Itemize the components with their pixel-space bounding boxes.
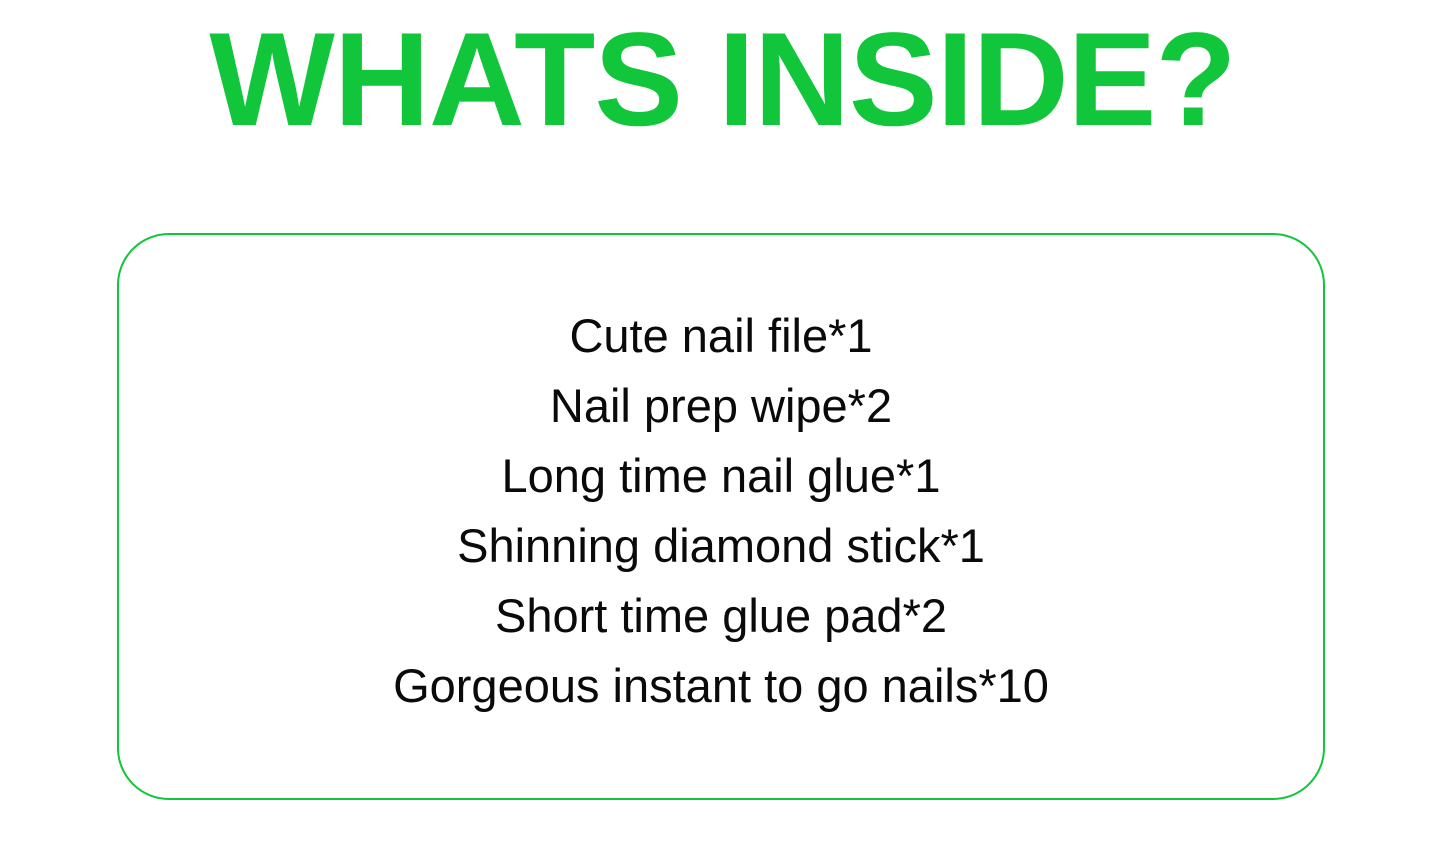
list-item: Shinning diamond stick*1 bbox=[119, 511, 1323, 581]
contents-list: Cute nail file*1 Nail prep wipe*2 Long t… bbox=[119, 301, 1323, 721]
page-title: WHATS INSIDE? bbox=[0, 14, 1445, 147]
list-item: Nail prep wipe*2 bbox=[119, 371, 1323, 441]
list-item: Cute nail file*1 bbox=[119, 301, 1323, 371]
list-item: Gorgeous instant to go nails*10 bbox=[119, 651, 1323, 721]
list-item: Long time nail glue*1 bbox=[119, 441, 1323, 511]
contents-card: Cute nail file*1 Nail prep wipe*2 Long t… bbox=[117, 233, 1325, 800]
product-contents-slide: WHATS INSIDE? Cute nail file*1 Nail prep… bbox=[0, 0, 1445, 861]
list-item: Short time glue pad*2 bbox=[119, 581, 1323, 651]
